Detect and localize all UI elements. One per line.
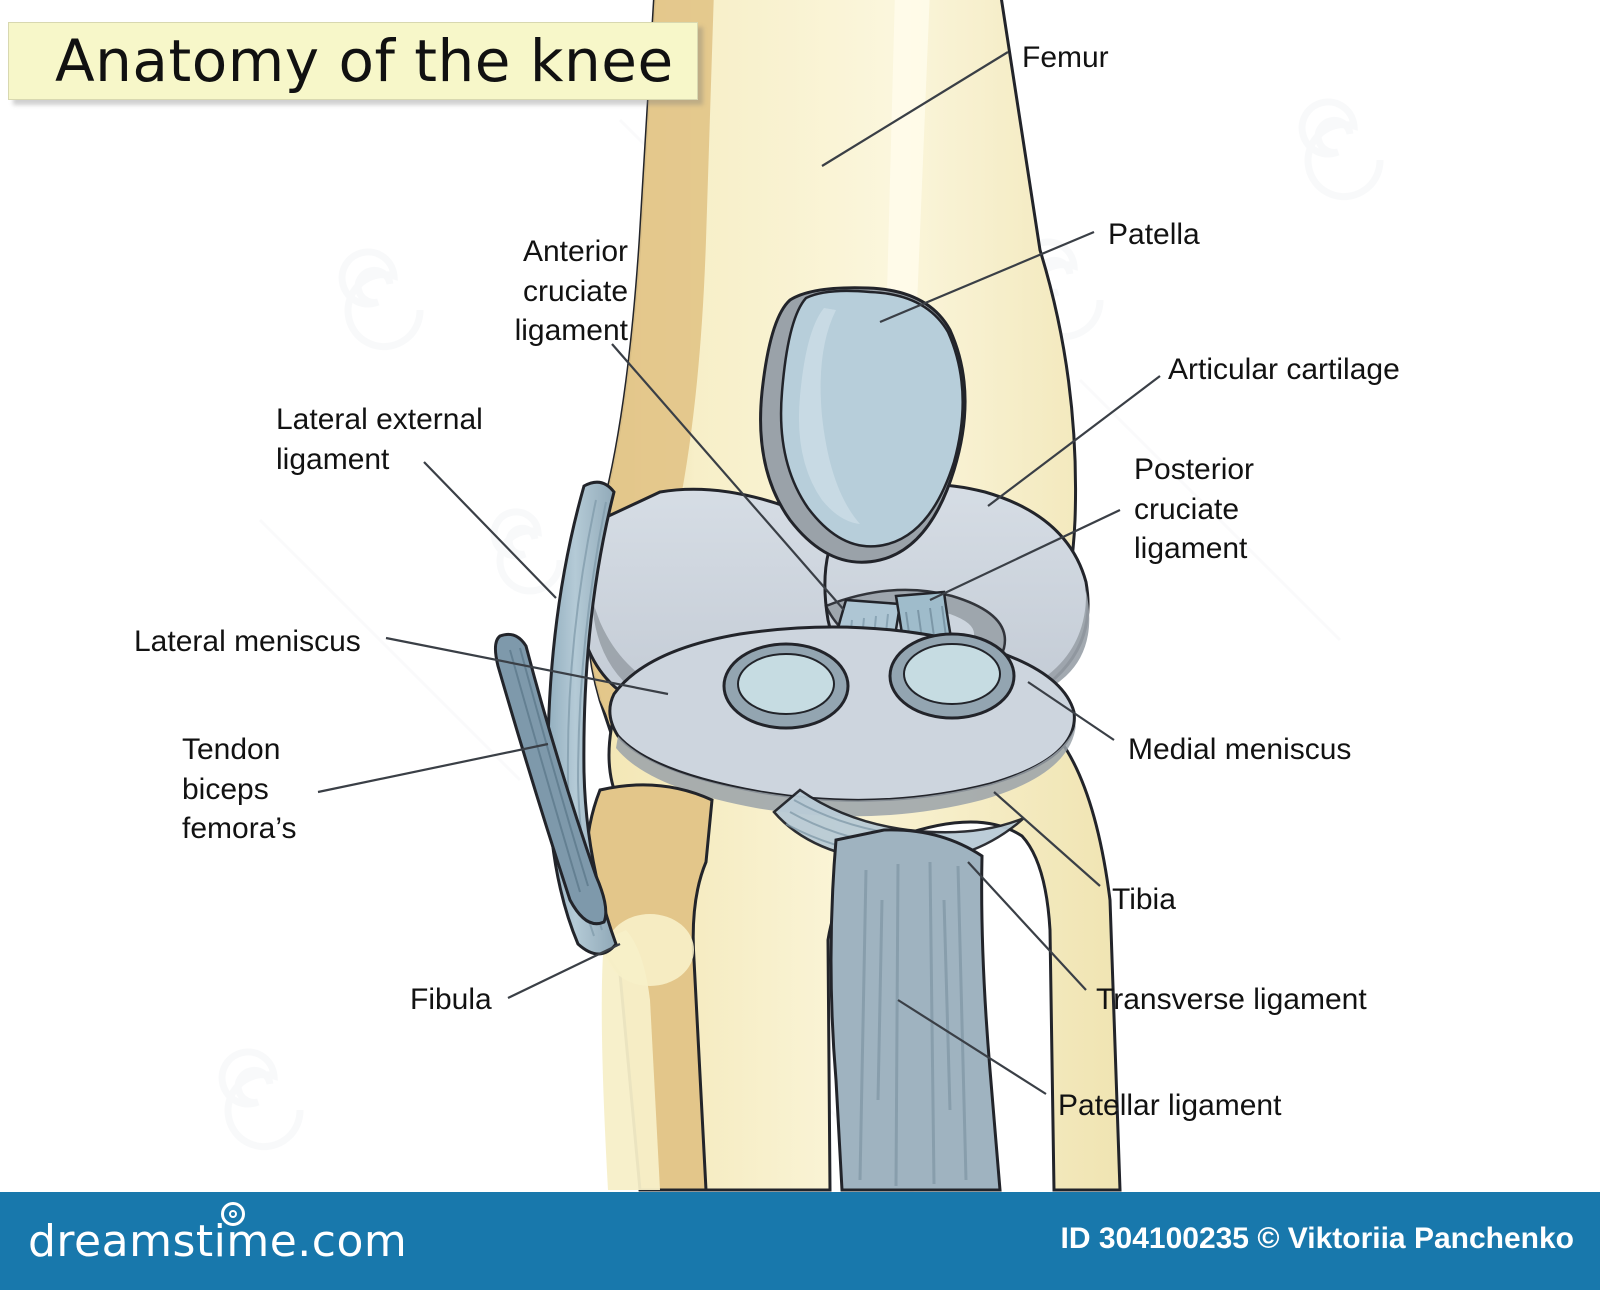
label-articular-cartilage: Articular cartilage [1168,350,1400,390]
label-lateral-meniscus: Lateral meniscus [134,622,361,662]
label-medial-meniscus: Medial meniscus [1128,730,1351,770]
page-title: Anatomy of the knee [55,27,674,95]
label-patellar-ligament: Patellar ligament [1058,1086,1281,1126]
label-femur: Femur [1022,38,1109,78]
spiral-icon [221,1202,245,1226]
image-credit: ID 304100235 © Viktoriia Panchenko [1061,1222,1575,1256]
label-transverse-ligament: Transverse ligament [1096,980,1367,1020]
dreamstime-logo[interactable]: dreamstime.com [28,1216,407,1267]
lateral-meniscus [724,644,848,728]
label-tendon-biceps-femoras: Tendon biceps femora’s [182,730,297,849]
fibula [587,785,712,1190]
label-fibula: Fibula [410,980,492,1020]
label-tibia: Tibia [1112,880,1176,920]
footer-bar: dreamstime.com ID 304100235 © Viktoriia … [0,1192,1600,1290]
label-posterior-cruciate-ligament: Posterior cruciate ligament [1134,450,1254,569]
brand-text: dreamstime.com [28,1216,407,1267]
medial-meniscus [890,634,1014,718]
label-patella: Patella [1108,215,1200,255]
leader-tendon-biceps-femoras [318,744,548,792]
title-banner: Anatomy of the knee [8,22,698,100]
label-anterior-cruciate-ligament: Anterior cruciate ligament [488,232,628,351]
label-lateral-external-ligament: Lateral external ligament [276,400,483,479]
anatomy-illustration: Anatomy of the knee FemurPatellaArticula… [0,0,1600,1290]
